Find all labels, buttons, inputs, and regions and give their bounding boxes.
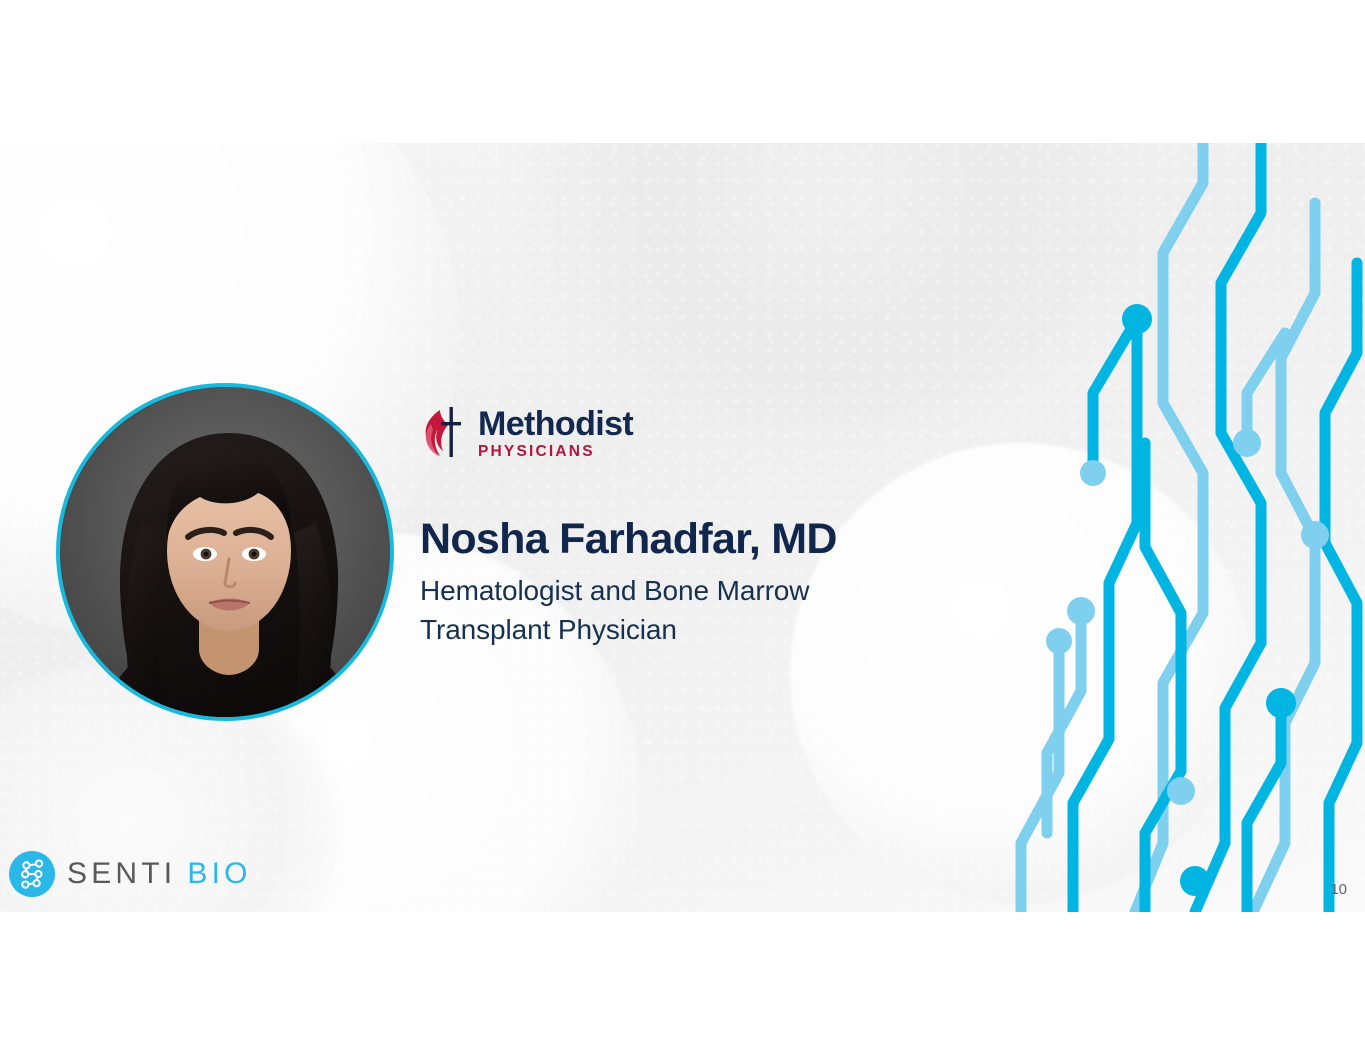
senti-bio-wordmark: SENTI BIO [67, 857, 252, 891]
slide-canvas: Methodist PHYSICIANS Nosha Farhadfar, MD… [0, 143, 1365, 912]
avatar [60, 387, 390, 717]
speaker-name: Nosha Farhadfar, MD [420, 517, 980, 562]
methodist-wordmark: Methodist PHYSICIANS [478, 407, 633, 460]
circuit-pathways-graphic [985, 143, 1365, 912]
slide-deck: Methodist PHYSICIANS Nosha Farhadfar, MD… [0, 0, 1365, 1055]
senti-node-logo-icon [8, 850, 56, 898]
brand-word-senti: SENTI [67, 857, 176, 891]
speaker-title-line-1: Hematologist and Bone Marrow [420, 572, 980, 611]
cross-and-flame-icon [420, 404, 466, 462]
senti-bio-logo: SENTI BIO [8, 850, 252, 898]
page-number: 10 [1330, 881, 1347, 898]
methodist-physicians-logo: Methodist PHYSICIANS [420, 401, 980, 465]
speaker-info-block: Methodist PHYSICIANS Nosha Farhadfar, MD… [420, 401, 980, 649]
partner-subtitle: PHYSICIANS [478, 444, 633, 460]
speaker-title: Hematologist and Bone Marrow Transplant … [420, 572, 980, 649]
partner-name: Methodist [478, 407, 633, 441]
speaker-portrait [56, 383, 394, 721]
portrait-illustration [60, 387, 390, 717]
brand-word-bio: BIO [187, 857, 251, 891]
speaker-title-line-2: Transplant Physician [420, 611, 980, 650]
